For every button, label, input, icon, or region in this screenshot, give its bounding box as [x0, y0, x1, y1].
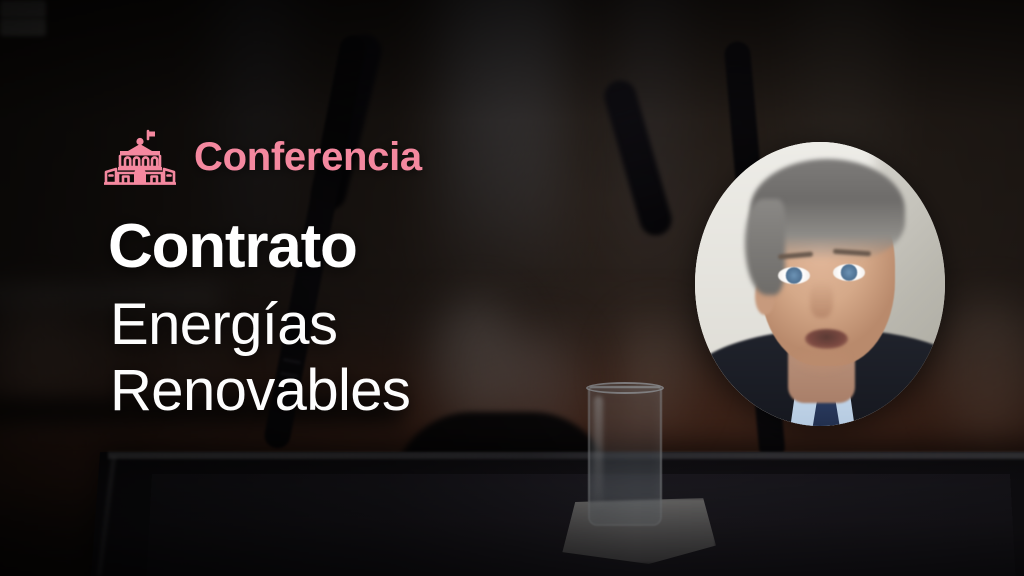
page-title: Contrato [108, 216, 357, 278]
subtitle-line-2: Renovables [110, 358, 410, 424]
overlay-content: Conferencia Contrato Energías Renovables [0, 0, 1024, 576]
eyebrow-row: Conferencia [104, 129, 422, 185]
portrait-hair-side [745, 199, 785, 296]
portrait-chin [795, 349, 850, 372]
subtitle-line-1: Energías [110, 292, 410, 358]
portrait-nose [810, 281, 833, 318]
thumbnail-canvas: Conferencia Contrato Energías Renovables [0, 0, 1024, 576]
portrait-mouth [805, 329, 848, 349]
eyebrow-label: Conferencia [194, 137, 422, 177]
portrait-eye-right [833, 264, 866, 281]
subtitle-block: Energías Renovables [110, 292, 410, 424]
portrait-eye-left [778, 267, 811, 284]
casa-rosada-icon [104, 129, 176, 185]
speaker-portrait [695, 142, 945, 426]
